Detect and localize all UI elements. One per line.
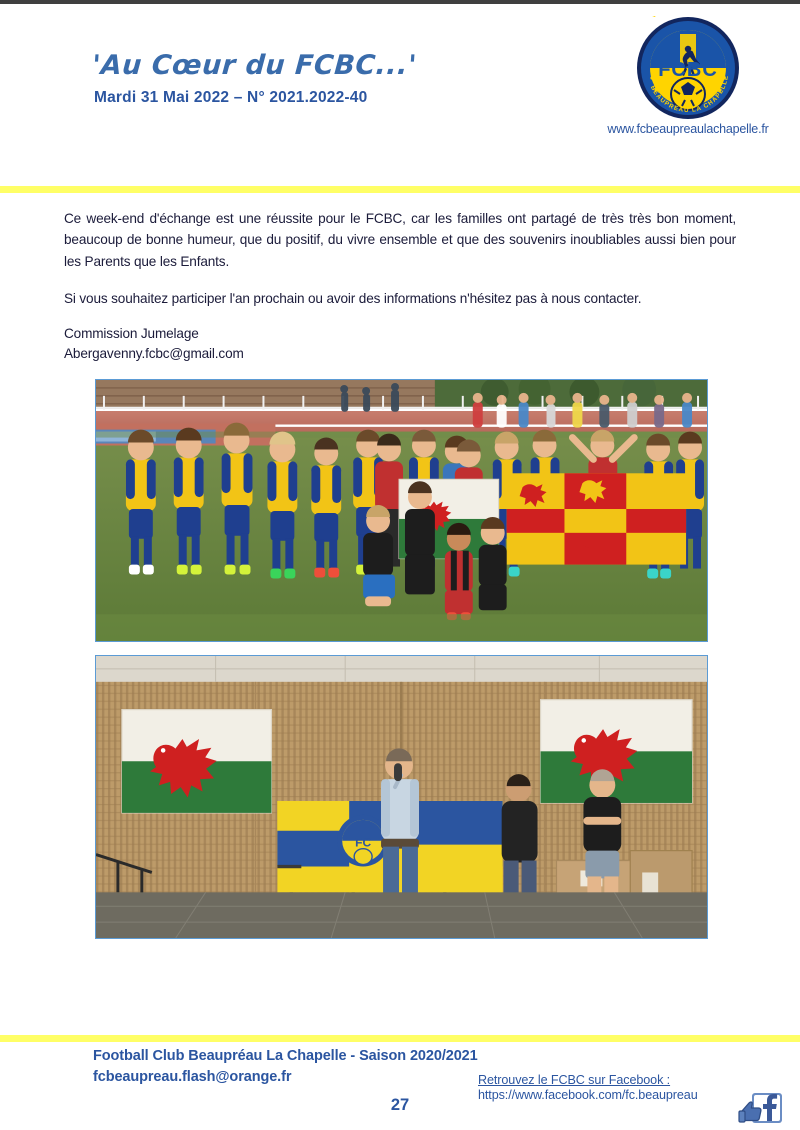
hall-presentation-photo: FC [95,655,708,939]
facebook-thumbs-up-icon[interactable] [738,1089,784,1129]
title-block: 'Au Cœur du FCBC...' Mardi 31 Mai 2022 –… [92,52,417,107]
body-paragraph-2: Si vous souhaitez participer l'an procha… [64,288,736,309]
article-body: Ce week-end d'échange est une réussite p… [64,208,736,363]
body-paragraph-1: Ce week-end d'échange est une réussite p… [64,208,736,272]
team-group-photo [95,379,708,642]
page-title: 'Au Cœur du FCBC...' [91,52,418,80]
header-divider [0,186,800,193]
footer-club-name: Football Club Beaupréau La Chapelle - Sa… [93,1048,478,1064]
signature-email[interactable]: Abergavenny.fcbc@gmail.com [64,344,736,364]
welsh-flag-left [122,710,272,813]
footer-divider [0,1035,800,1042]
fcbc-badge-icon: FCBC FOOTBALL CLUB BEAUPREAU LA CHAPELLE [636,16,740,120]
badge-initials: FCBC [658,59,718,81]
issue-subtitle: Mardi 31 Mai 2022 – N° 2021.2022-40 [94,89,417,107]
club-logo-block: FCBC FOOTBALL CLUB BEAUPREAU LA CHAPELLE… [594,16,782,136]
signature-name: Commission Jumelage [64,324,736,344]
page-footer: Football Club Beaupréau La Chapelle - Sa… [0,1044,800,1130]
team-photo-illustration [96,380,707,641]
facebook-block[interactable]: Retrouvez le FCBC sur Facebook : https:/… [478,1073,738,1102]
newsletter-page: 'Au Cœur du FCBC...' Mardi 31 Mai 2022 –… [0,0,800,1130]
hall-photo-illustration: FC [96,656,707,938]
facebook-label: Retrouvez le FCBC sur Facebook : [478,1073,738,1087]
page-header: 'Au Cœur du FCBC...' Mardi 31 Mai 2022 –… [0,8,800,184]
heraldic-lion-flag [507,473,686,564]
facebook-url[interactable]: https://www.facebook.com/fc.beaupreau [478,1088,738,1102]
welsh-flag-right [541,700,693,803]
footer-email[interactable]: fcbeaupreau.flash@orange.fr [93,1069,291,1085]
svg-text:FC: FC [355,836,371,850]
club-website-url[interactable]: www.fcbeaupreaulachapelle.fr [594,122,782,136]
